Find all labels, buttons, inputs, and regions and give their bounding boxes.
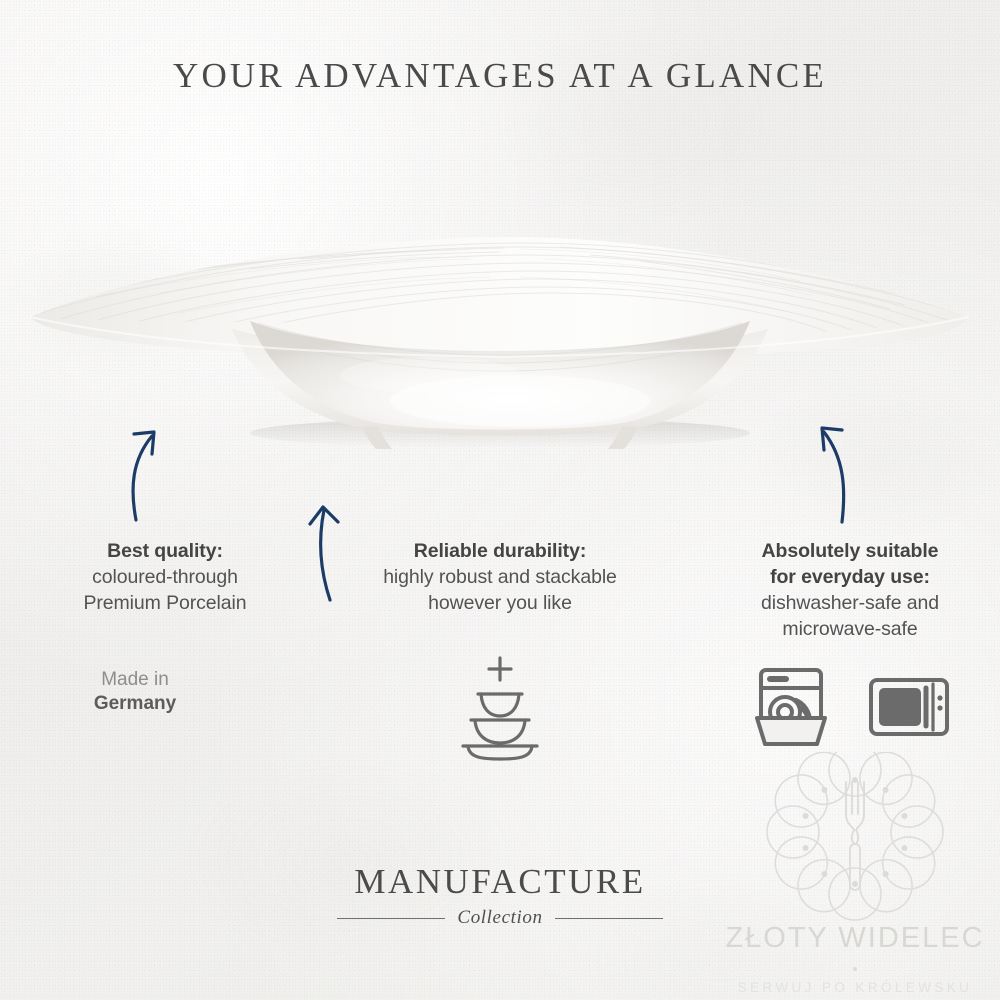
brand-name: MANUFACTURE	[0, 862, 1000, 902]
brand-collection: Collection	[457, 907, 542, 929]
advantage-body-line: however you like	[345, 590, 655, 616]
stackable-bowls-icon	[345, 650, 655, 762]
rule-right	[555, 918, 663, 919]
watermark-divider-dot	[853, 967, 857, 971]
advantage-heading: Best quality:	[10, 538, 320, 564]
advantage-body-line: highly robust and stackable	[345, 564, 655, 590]
infographic-page: YOUR ADVANTAGES AT A GLANCE	[0, 0, 1000, 1000]
dishwasher-icon	[745, 660, 837, 757]
rule-left	[337, 918, 445, 919]
advantage-column-best-quality: Best quality: coloured-through Premium P…	[10, 538, 320, 616]
made-in-germany-label: Made in Germany	[10, 668, 260, 716]
advantage-column-everyday-use: Absolutely suitable for everyday use: di…	[705, 538, 995, 642]
advantage-body-line: Premium Porcelain	[10, 590, 320, 616]
advantage-body-line: coloured-through	[10, 564, 320, 590]
microwave-icon	[863, 660, 955, 757]
brand-logo: MANUFACTURE Collection	[0, 862, 1000, 929]
advantage-heading: Absolutely suitable	[705, 538, 995, 564]
brand-collection-row: Collection	[0, 907, 1000, 929]
advantage-body-line: dishwasher-safe and	[705, 590, 995, 616]
watermark-tagline: SERWUJ PO KRÓLEWSKU	[690, 980, 1000, 995]
advantage-column-reliable-durability: Reliable durability: highly robust and s…	[345, 538, 655, 616]
advantage-heading: for everyday use:	[705, 564, 995, 590]
arrow-left-icon	[108, 412, 178, 529]
arrow-right-icon	[796, 408, 866, 531]
advantage-body-line: microwave-safe	[705, 616, 995, 642]
advantage-heading: Reliable durability:	[345, 538, 655, 564]
made-in-line2: Germany	[10, 692, 260, 716]
made-in-line1: Made in	[10, 668, 260, 692]
safety-icon-row	[705, 660, 995, 757]
page-title: YOUR ADVANTAGES AT A GLANCE	[0, 56, 1000, 96]
